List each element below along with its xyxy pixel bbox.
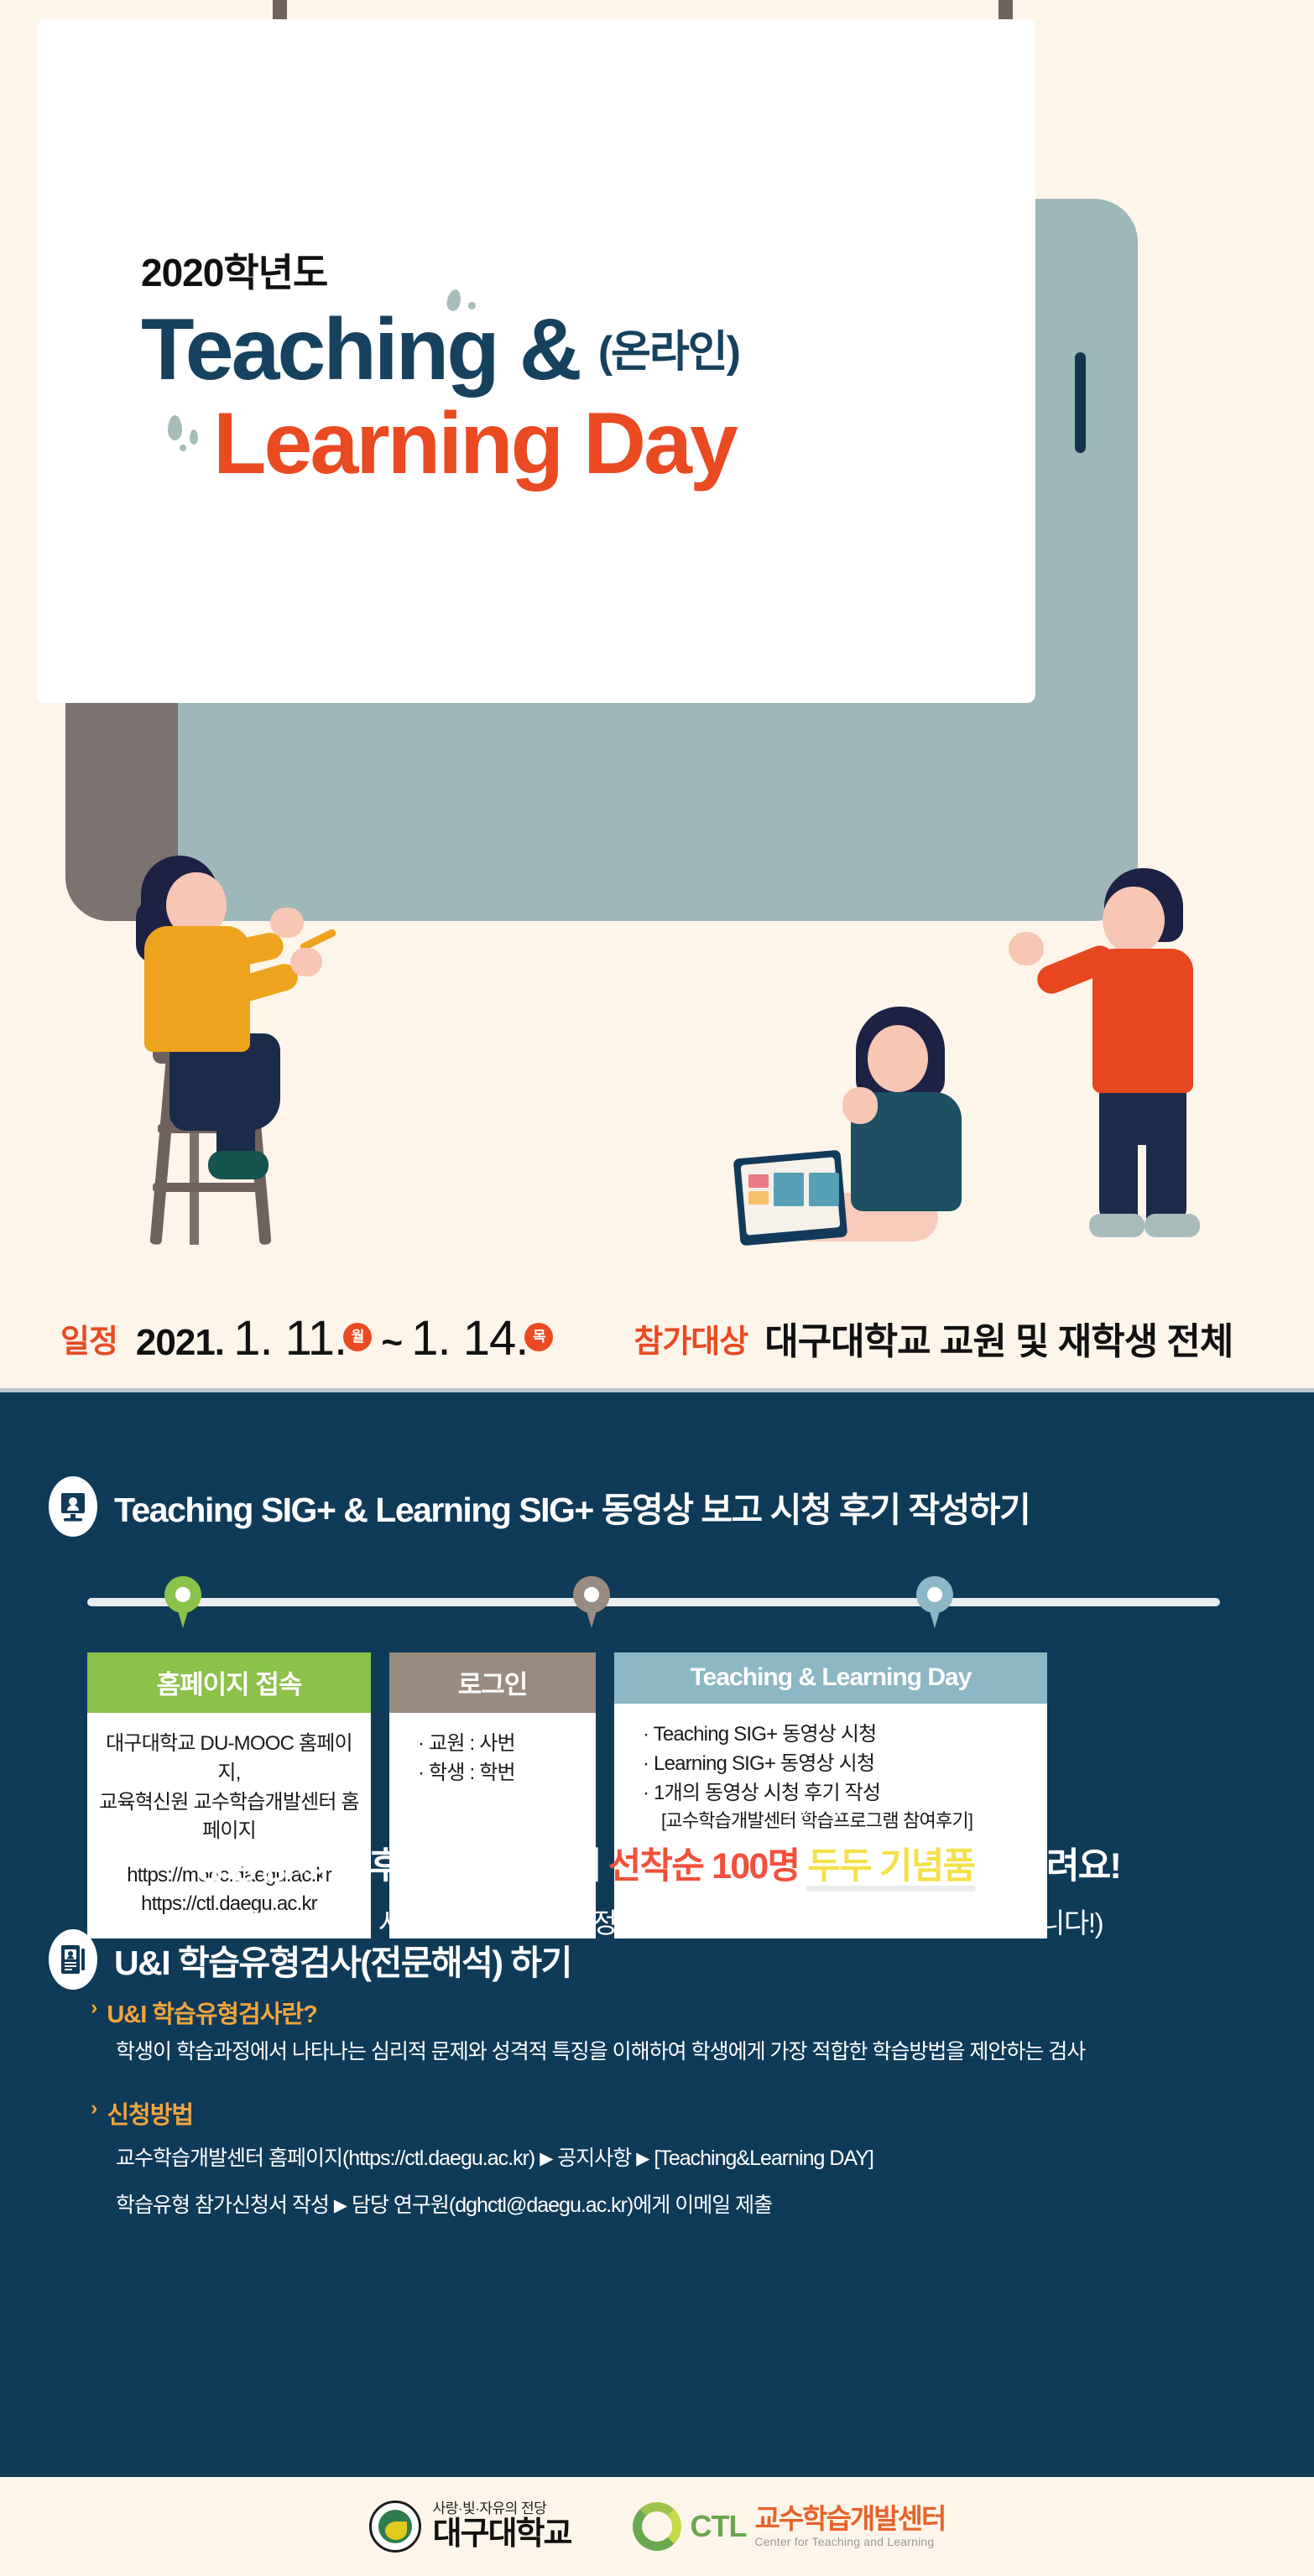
daegu-university-logo: 사랑·빛·자유의 전당 대구대학교 bbox=[369, 2501, 571, 2553]
section-1-title: Teaching SIG+ & Learning SIG+ 동영상 보고 시청 … bbox=[114, 1481, 1030, 1532]
step-1-line-1: 대구대학교 DU-MOOC 홈페이지, bbox=[99, 1730, 359, 1788]
hero-illustration-section: 2020학년도 Teaching & (온라인) Learning Day bbox=[0, 0, 1314, 1418]
ui-howto-2a: 학습유형 참가신청서 작성 bbox=[116, 2194, 329, 2217]
title-learning-day: Learning Day bbox=[213, 399, 972, 488]
document-card-icon bbox=[49, 1929, 97, 1990]
poster-title-block: 2020학년도 Teaching & (온라인) Learning Day bbox=[141, 253, 972, 488]
step-2-line-1: · 교원 : 사번 bbox=[418, 1730, 584, 1759]
ui-howto-label: 신청방법 bbox=[107, 2095, 193, 2131]
presentation-board-icon bbox=[49, 1476, 97, 1537]
schedule-bar: 일정 2021. 1. 11.월 ~ 1. 14.목 참가대상 대구대학교 교원… bbox=[0, 1292, 1314, 1384]
ui-howto-1c: [Teaching&Learning DAY] bbox=[654, 2147, 873, 2170]
gift-promo-block: ✧ ✦ 동영상 시청 후기 작성자에게 선착순 100명 두두 기념품을 드려요… bbox=[0, 1837, 1314, 1941]
poster-root: 2020학년도 Teaching & (온라인) Learning Day bbox=[0, 0, 1314, 2576]
ui-howto-2b[interactable]: 담당 연구원(dghctl@daegu.ac.kr)에게 이메일 제출 bbox=[352, 2194, 772, 2217]
schedule-tilde: ~ bbox=[381, 1322, 402, 1363]
university-name: 대구대학교 bbox=[433, 2518, 571, 2552]
section-1-heading: Teaching SIG+ & Learning SIG+ 동영상 보고 시청 … bbox=[49, 1476, 1030, 1537]
title-teaching: Teaching & bbox=[141, 305, 580, 394]
university-seal-icon bbox=[369, 2501, 421, 2553]
schedule-year: 2021. bbox=[136, 1322, 224, 1363]
sparkle-star-icon: ✧ bbox=[795, 1797, 814, 1826]
arrow-right-icon-3: ▶ bbox=[334, 2196, 347, 2215]
university-slogan: 사랑·빛·자유의 전당 bbox=[433, 2501, 571, 2516]
ctl-name-korean: 교수학습개발센터 bbox=[754, 2505, 945, 2534]
steps-timeline bbox=[87, 1598, 1220, 1606]
step-pin-3 bbox=[916, 1576, 953, 1628]
ctl-ring-icon bbox=[633, 2502, 681, 2551]
gift-space bbox=[799, 1846, 807, 1886]
step-3-header: Teaching & Learning Day bbox=[614, 1652, 1047, 1704]
footer-logos: 사랑·빛·자유의 전당 대구대학교 CTL 교수학습개발센터 Center fo… bbox=[0, 2477, 1314, 2576]
gift-main-line: ✧ ✦ 동영상 시청 후기 작성자에게 선착순 100명 두두 기념품을 드려요… bbox=[0, 1837, 1314, 1889]
schedule-start: 1. 11. bbox=[233, 1311, 347, 1366]
academic-year: 2020학년도 bbox=[141, 253, 972, 292]
schedule-end-day-badge: 목 bbox=[524, 1323, 553, 1351]
sparkle-star-small-icon: ✦ bbox=[832, 1803, 844, 1823]
gift-text-part1: 동영상 시청 후기 작성자에게 bbox=[194, 1846, 608, 1886]
section-2-body: › U&I 학습유형검사란? 학생이 학습과정에서 나타나는 심리적 문제와 성… bbox=[91, 1995, 1282, 2225]
ctl-abbrev: CTL bbox=[690, 2509, 746, 2544]
ui-howto-1b: 공지사항 bbox=[557, 2147, 631, 2170]
ui-subheading-howto: › 신청방법 bbox=[91, 2095, 1282, 2131]
arrow-right-icon-2: ▶ bbox=[636, 2149, 649, 2168]
step-1-header: 홈페이지 접속 bbox=[87, 1652, 371, 1713]
section-2-heading: U&I 학습유형검사(전문해석) 하기 bbox=[49, 1929, 571, 1990]
ui-howto-1a[interactable]: 교수학습개발센터 홈페이지(https://ctl.daegu.ac.kr) bbox=[116, 2147, 534, 2170]
ui-howto-line-1: 교수학습개발센터 홈페이지(https://ctl.daegu.ac.kr) ▶… bbox=[116, 2139, 1282, 2178]
person-tablet-illustration bbox=[839, 1007, 1091, 1258]
ctl-logo: CTL 교수학습개발센터 Center for Teaching and Lea… bbox=[633, 2502, 945, 2551]
arrow-right-icon-1: ▶ bbox=[540, 2149, 552, 2168]
phone-right-indicator bbox=[1075, 352, 1086, 453]
ui-subheading-definition: › U&I 학습유형검사란? bbox=[91, 1995, 1282, 2030]
chevron-right-icon-2: › bbox=[91, 2095, 96, 2121]
section-2-title: U&I 학습유형검사(전문해석) 하기 bbox=[114, 1934, 571, 1985]
ui-definition-label: U&I 학습유형검사란? bbox=[107, 1995, 316, 2030]
ctl-name-english: Center for Teaching and Learning bbox=[754, 2536, 945, 2548]
ui-howto-line-2: 학습유형 참가신청서 작성 ▶ 담당 연구원(dghctl@daegu.ac.k… bbox=[116, 2186, 1282, 2225]
schedule-end: 1. 14. bbox=[411, 1311, 528, 1366]
ui-definition-text: 학생이 학습과정에서 나타나는 심리적 문제와 성격적 특징을 이해하여 학생에… bbox=[116, 2037, 1282, 2069]
chevron-right-icon-1: › bbox=[91, 1995, 96, 2021]
person-stool-illustration bbox=[117, 856, 386, 1258]
step-3-line-1: · Teaching SIG+ 동영상 시청 bbox=[643, 1720, 1035, 1750]
person-standing-illustration bbox=[1082, 868, 1275, 1258]
title-online-tag: (온라인) bbox=[598, 316, 739, 394]
step-2-header: 로그인 bbox=[389, 1652, 596, 1713]
gift-text-part2: 을 드려요! bbox=[974, 1846, 1120, 1886]
audience-label: 참가대상 bbox=[634, 1315, 748, 1361]
step-3-note: [교수학습개발센터 학습프로그램 참여후기] bbox=[661, 1808, 1035, 1834]
step-pin-1 bbox=[164, 1576, 201, 1628]
gift-highlight-item: 두두 기념품 bbox=[807, 1846, 974, 1886]
gift-highlight-count: 선착순 100명 bbox=[608, 1846, 800, 1886]
audience-value: 대구대학교 교원 및 재학생 전체 bbox=[764, 1311, 1233, 1365]
details-section: Teaching SIG+ & Learning SIG+ 동영상 보고 시청 … bbox=[0, 1388, 1314, 2477]
schedule-dates: 2021. 1. 11.월 ~ 1. 14.목 bbox=[136, 1310, 553, 1366]
step-2-line-2: · 학생 : 학번 bbox=[418, 1759, 584, 1788]
step-pin-2 bbox=[573, 1576, 610, 1628]
step-3-line-2: · Learning SIG+ 동영상 시청 bbox=[643, 1750, 1035, 1779]
schedule-label: 일정 bbox=[60, 1315, 117, 1361]
schedule-start-day-badge: 월 bbox=[343, 1323, 372, 1351]
